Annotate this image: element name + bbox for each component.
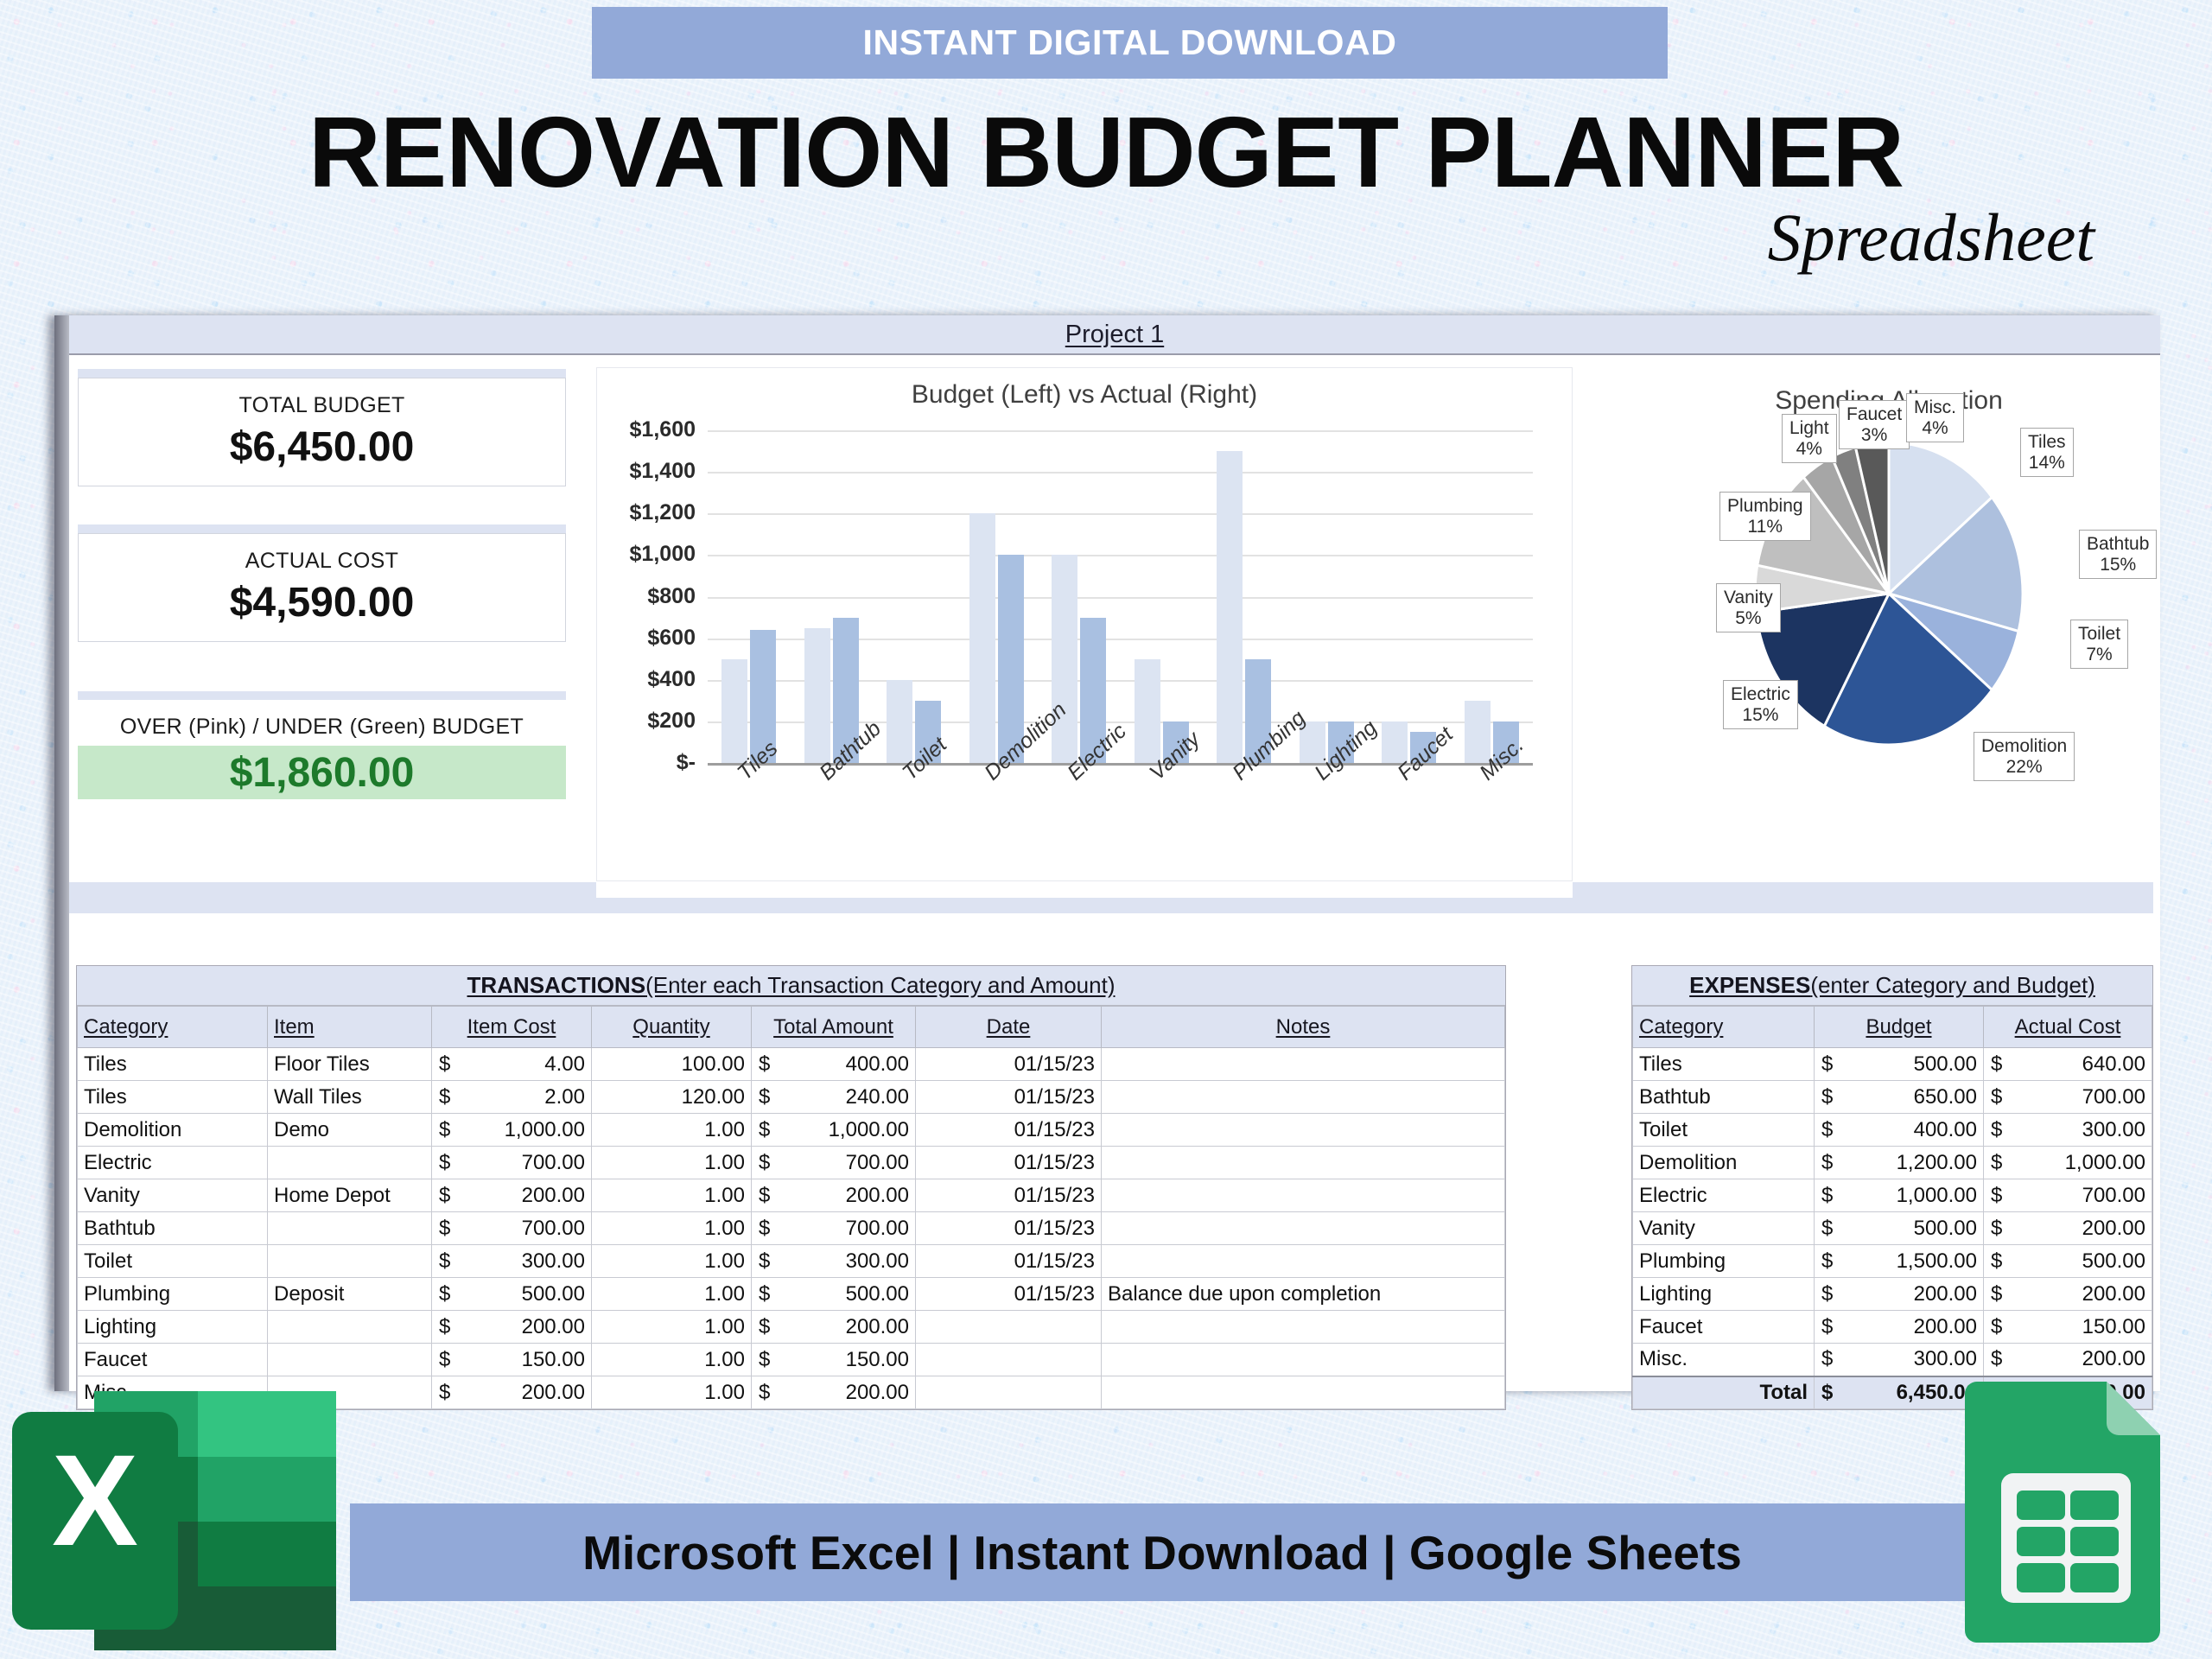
currency-symbol: $: [1991, 1217, 2002, 1241]
cell-quantity[interactable]: 1.00: [592, 1344, 752, 1376]
currency-symbol: $: [439, 1184, 450, 1208]
pie-callout-value: 15%: [1731, 705, 1790, 726]
transactions-th: Item: [268, 1007, 432, 1048]
bar-chart-y-tick: $400: [647, 667, 696, 692]
table-row[interactable]: Toilet$300.001.00$300.0001/15/23: [78, 1245, 1505, 1278]
currency-symbol: $: [1821, 1249, 1833, 1274]
cell-quantity[interactable]: 1.00: [592, 1147, 752, 1179]
cell-total-amount[interactable]: $200.00: [752, 1376, 916, 1409]
cell-date[interactable]: 01/15/23: [916, 1278, 1102, 1311]
cell-item[interactable]: [268, 1344, 432, 1376]
table-row[interactable]: Bathtub$650.00$700.00: [1633, 1081, 2152, 1114]
cell-date[interactable]: 01/15/23: [916, 1212, 1102, 1245]
cell-notes[interactable]: [1102, 1245, 1505, 1278]
page-title: RENOVATION BUDGET PLANNER: [0, 102, 2212, 202]
expenses-body: Tiles$500.00$640.00Bathtub$650.00$700.00…: [1633, 1048, 2152, 1409]
table-row[interactable]: Plumbing$1,500.00$500.00: [1633, 1245, 2152, 1278]
kpi-total-budget-value: $6,450.00: [230, 423, 415, 471]
pie-callout-label: Misc.: [1914, 397, 1956, 418]
currency-symbol: $: [1821, 1217, 1833, 1241]
bar-group: [969, 430, 1024, 763]
currency-symbol: $: [759, 1315, 770, 1339]
cell-budget[interactable]: $500.00: [1815, 1212, 1984, 1245]
currency-symbol: $: [1821, 1151, 1833, 1175]
cell-total-amount[interactable]: $700.00: [752, 1147, 916, 1179]
cell-quantity[interactable]: 120.00: [592, 1081, 752, 1114]
transactions-column-header: Item: [274, 1015, 315, 1039]
currency-symbol: $: [759, 1184, 770, 1208]
pie-callout-value: 3%: [1847, 425, 1902, 446]
table-row[interactable]: DemolitionDemo$1,000.001.00$1,000.0001/1…: [78, 1114, 1505, 1147]
cell-category[interactable]: Tiles: [78, 1048, 268, 1081]
cell-category[interactable]: Toilet: [1633, 1114, 1815, 1147]
transactions-th: Quantity: [592, 1007, 752, 1048]
excel-icon: X: [12, 1391, 336, 1650]
cell-item-cost[interactable]: $4.00: [432, 1048, 592, 1081]
page-subtitle-script: Spreadsheet: [0, 199, 2094, 276]
table-row[interactable]: Bathtub$700.001.00$700.0001/15/23: [78, 1212, 1505, 1245]
cell-category[interactable]: Lighting: [78, 1311, 268, 1344]
currency-symbol: $: [1991, 1151, 2002, 1175]
pie-callout-label: Light: [1789, 418, 1829, 439]
cell-actual-cost[interactable]: $700.00: [1984, 1081, 2152, 1114]
bar-budget-vanity: [1135, 659, 1160, 763]
currency-symbol: $: [1821, 1085, 1833, 1109]
cell-category[interactable]: Plumbing: [1633, 1245, 1815, 1278]
bar-chart-plot-area: $-$200$400$600$800$1,000$1,200$1,400$1,6…: [708, 430, 1533, 763]
bar-chart-y-tick: $600: [647, 626, 696, 651]
bar-group: [1217, 430, 1271, 763]
currency-symbol: $: [1821, 1381, 1833, 1405]
expenses-table-panel: EXPENSES (enter Category and Budget) Cat…: [1631, 965, 2153, 1410]
table-row[interactable]: Tiles$500.00$640.00: [1633, 1048, 2152, 1081]
cell-item-cost[interactable]: $200.00: [432, 1376, 592, 1409]
bar-chart-y-tick: $1,600: [630, 417, 696, 442]
cell-item[interactable]: [268, 1311, 432, 1344]
bar-budget-bathtub: [804, 628, 830, 763]
expenses-column-header: Actual Cost: [2015, 1015, 2121, 1039]
cell-budget[interactable]: $300.00: [1815, 1344, 1984, 1376]
transactions-column-header: Notes: [1276, 1015, 1331, 1039]
bar-chart-y-tick: $200: [647, 709, 696, 734]
cell-date[interactable]: 01/15/23: [916, 1081, 1102, 1114]
cell-category[interactable]: Tiles: [78, 1081, 268, 1114]
expenses-heading: EXPENSES (enter Category and Budget): [1632, 966, 2152, 1006]
cell-total-amount[interactable]: $1,000.00: [752, 1114, 916, 1147]
currency-symbol: $: [439, 1315, 450, 1339]
currency-symbol: $: [439, 1381, 450, 1405]
transactions-column-header: Item Cost: [467, 1015, 556, 1039]
kpi-actual-cost-value: $4,590.00: [230, 579, 415, 626]
kpi-over-under-budget: OVER (Pink) / UNDER (Green) BUDGET $1,86…: [78, 700, 566, 814]
pie-callout-label: Tiles: [2028, 432, 2066, 453]
pie-callout-bathtub: Bathtub15%: [2079, 530, 2157, 579]
currency-symbol: $: [439, 1151, 450, 1175]
transactions-header-row: CategoryItemItem CostQuantityTotal Amoun…: [78, 1007, 1505, 1048]
currency-symbol: $: [439, 1085, 450, 1109]
pie-callout-label: Bathtub: [2087, 534, 2149, 555]
cell-budget[interactable]: $400.00: [1815, 1114, 1984, 1147]
cell-item-cost[interactable]: $500.00: [432, 1278, 592, 1311]
pie-callout-electric: Electric15%: [1723, 680, 1798, 729]
pie-callout-value: 11%: [1727, 517, 1803, 537]
expenses-th: Budget: [1815, 1007, 1984, 1048]
cell-budget[interactable]: $1,000.00: [1815, 1179, 1984, 1212]
pie-callout-value: 22%: [1981, 757, 2067, 778]
transactions-table: CategoryItemItem CostQuantityTotal Amoun…: [77, 1006, 1505, 1409]
kpi-divider-2: [78, 524, 566, 533]
transactions-column-header: Quantity: [632, 1015, 709, 1039]
pie-callout-plumbing: Plumbing11%: [1719, 492, 1811, 541]
currency-symbol: $: [439, 1217, 450, 1241]
instant-download-banner-label: INSTANT DIGITAL DOWNLOAD: [863, 22, 1397, 63]
expenses-total-label: Total: [1633, 1376, 1815, 1409]
currency-symbol: $: [439, 1249, 450, 1274]
kpi-total-budget: TOTAL BUDGET $6,450.00: [78, 378, 566, 486]
currency-symbol: $: [1821, 1347, 1833, 1371]
cell-category[interactable]: Tiles: [1633, 1048, 1815, 1081]
kpi-over-under-value: $1,860.00: [230, 749, 415, 797]
bar-group: [1135, 430, 1189, 763]
currency-symbol: $: [759, 1118, 770, 1142]
pie-callout-label: Toilet: [2078, 624, 2120, 645]
bar-group: [721, 430, 776, 763]
cell-total-amount[interactable]: $500.00: [752, 1278, 916, 1311]
transactions-heading-bold: TRANSACTIONS: [467, 972, 646, 999]
cell-quantity[interactable]: 1.00: [592, 1245, 752, 1278]
bar-chart-y-tick: $800: [647, 583, 696, 608]
project-title-bar: Project 1: [69, 315, 2160, 355]
cell-total-amount[interactable]: $300.00: [752, 1245, 916, 1278]
table-row[interactable]: Electric$1,000.00$700.00: [1633, 1179, 2152, 1212]
cell-total-amount[interactable]: $150.00: [752, 1344, 916, 1376]
cell-item[interactable]: Demo: [268, 1114, 432, 1147]
instant-download-banner: INSTANT DIGITAL DOWNLOAD: [592, 7, 1668, 79]
transactions-table-panel: TRANSACTIONS (Enter each Transaction Cat…: [76, 965, 1506, 1410]
cell-budget[interactable]: $650.00: [1815, 1081, 1984, 1114]
table-row[interactable]: Faucet$200.00$150.00: [1633, 1311, 2152, 1344]
project-title: Project 1: [1065, 321, 1164, 349]
table-row[interactable]: TilesWall Tiles$2.00120.00$240.0001/15/2…: [78, 1081, 1505, 1114]
currency-symbol: $: [1821, 1052, 1833, 1077]
bar-group: [887, 430, 941, 763]
bar-chart-y-tick: $1,200: [630, 500, 696, 525]
table-row[interactable]: Toilet$400.00$300.00: [1633, 1114, 2152, 1147]
cell-item[interactable]: Floor Tiles: [268, 1048, 432, 1081]
expenses-th: Category: [1633, 1007, 1815, 1048]
spending-allocation-pie-chart: Spending Allocation Tiles14%Bathtub15%To…: [1624, 367, 2153, 881]
cell-actual-cost[interactable]: $200.00: [1984, 1278, 2152, 1311]
currency-symbol: $: [439, 1348, 450, 1372]
cell-notes[interactable]: Balance due upon completion: [1102, 1278, 1505, 1311]
currency-symbol: $: [1821, 1184, 1833, 1208]
cell-category[interactable]: Lighting: [1633, 1278, 1815, 1311]
cell-quantity[interactable]: 1.00: [592, 1114, 752, 1147]
currency-symbol: $: [1991, 1249, 2002, 1274]
google-sheets-icon: [1960, 1370, 2176, 1655]
cell-category[interactable]: Bathtub: [78, 1212, 268, 1245]
currency-symbol: $: [1991, 1184, 2002, 1208]
spreadsheet-right-edge: [2153, 315, 2160, 1391]
table-row[interactable]: Lighting$200.001.00$200.00: [78, 1311, 1505, 1344]
pie-callout-light: Light4%: [1782, 414, 1837, 463]
table-row[interactable]: VanityHome Depot$200.001.00$200.0001/15/…: [78, 1179, 1505, 1212]
cell-notes[interactable]: [1102, 1147, 1505, 1179]
cell-budget[interactable]: $200.00: [1815, 1311, 1984, 1344]
cell-date[interactable]: 01/15/23: [916, 1048, 1102, 1081]
currency-symbol: $: [1821, 1118, 1833, 1142]
expenses-column-header: Category: [1639, 1015, 1723, 1039]
currency-symbol: $: [759, 1249, 770, 1274]
cell-notes[interactable]: [1102, 1212, 1505, 1245]
currency-symbol: $: [759, 1217, 770, 1241]
currency-symbol: $: [439, 1282, 450, 1306]
cell-budget[interactable]: $200.00: [1815, 1278, 1984, 1311]
cell-quantity[interactable]: 1.00: [592, 1212, 752, 1245]
pie-callout-faucet: Faucet3%: [1839, 400, 1910, 449]
cell-item-cost[interactable]: $300.00: [432, 1245, 592, 1278]
currency-symbol: $: [1821, 1315, 1833, 1339]
currency-symbol: $: [759, 1381, 770, 1405]
cell-actual-cost[interactable]: $500.00: [1984, 1245, 2152, 1278]
transactions-th: Item Cost: [432, 1007, 592, 1048]
spreadsheet-left-shadow: [54, 315, 69, 1391]
cell-category[interactable]: Demolition: [78, 1114, 268, 1147]
sheet-mid-notch: [596, 882, 1573, 898]
pie-callout-demolition: Demolition22%: [1974, 732, 2075, 781]
currency-symbol: $: [1991, 1118, 2002, 1142]
transactions-th: Total Amount: [752, 1007, 916, 1048]
pie-callout-value: 4%: [1789, 439, 1829, 460]
pie-callout-tiles: Tiles14%: [2020, 428, 2074, 477]
cell-budget[interactable]: $500.00: [1815, 1048, 1984, 1081]
cell-item-cost[interactable]: $1,000.00: [432, 1114, 592, 1147]
kpi-actual-cost: ACTUAL COST $4,590.00: [78, 533, 566, 642]
svg-text:X: X: [52, 1427, 138, 1573]
cell-item-cost[interactable]: $150.00: [432, 1344, 592, 1376]
cell-category[interactable]: Vanity: [78, 1179, 268, 1212]
kpi-divider-3: [78, 691, 566, 700]
pie-callout-toilet: Toilet7%: [2070, 620, 2128, 669]
currency-symbol: $: [759, 1052, 770, 1077]
pie-callout-label: Vanity: [1724, 588, 1773, 608]
cell-budget[interactable]: $1,500.00: [1815, 1245, 1984, 1278]
transactions-th: Date: [916, 1007, 1102, 1048]
cell-category[interactable]: Toilet: [78, 1245, 268, 1278]
cell-item[interactable]: Deposit: [268, 1278, 432, 1311]
cell-actual-cost[interactable]: $150.00: [1984, 1311, 2152, 1344]
bar-budget-toilet: [887, 680, 912, 763]
bar-chart-x-axis-labels: TilesBathtubToiletDemolitionElectricVani…: [708, 767, 1533, 871]
kpi-actual-cost-label: ACTUAL COST: [245, 549, 398, 574]
currency-symbol: $: [759, 1151, 770, 1175]
bar-chart-y-tick: $-: [677, 750, 696, 775]
bar-chart-y-tick: $1,000: [630, 542, 696, 567]
pie-callout-vanity: Vanity5%: [1716, 583, 1781, 632]
cell-budget[interactable]: $1,200.00: [1815, 1147, 1984, 1179]
pie-callout-value: 4%: [1914, 418, 1956, 439]
cell-category[interactable]: Plumbing: [78, 1278, 268, 1311]
currency-symbol: $: [439, 1118, 450, 1142]
currency-symbol: $: [759, 1282, 770, 1306]
table-row[interactable]: TilesFloor Tiles$4.00100.00$400.0001/15/…: [78, 1048, 1505, 1081]
table-row[interactable]: Vanity$500.00$200.00: [1633, 1212, 2152, 1245]
bar-group: [1300, 430, 1354, 763]
cell-date[interactable]: [916, 1344, 1102, 1376]
cell-category[interactable]: Bathtub: [1633, 1081, 1815, 1114]
cell-category[interactable]: Misc.: [1633, 1344, 1815, 1376]
pie-callout-label: Demolition: [1981, 736, 2067, 757]
transactions-heading-rest: (Enter each Transaction Category and Amo…: [645, 972, 1115, 999]
table-row[interactable]: Demolition$1,200.00$1,000.00: [1633, 1147, 2152, 1179]
cell-notes[interactable]: [1102, 1311, 1505, 1344]
kpi-divider-1: [78, 369, 566, 378]
bar-budget-electric: [1052, 555, 1077, 763]
transactions-body: TilesFloor Tiles$4.00100.00$400.0001/15/…: [78, 1048, 1505, 1409]
cell-category[interactable]: Faucet: [78, 1344, 268, 1376]
bar-group: [1465, 430, 1519, 763]
cell-quantity[interactable]: 1.00: [592, 1376, 752, 1409]
cell-notes[interactable]: [1102, 1344, 1505, 1376]
cell-item-cost[interactable]: $200.00: [432, 1179, 592, 1212]
bar-budget-misc: [1465, 701, 1491, 763]
pie-callout-label: Faucet: [1847, 404, 1902, 425]
expenses-th: Actual Cost: [1984, 1007, 2152, 1048]
cell-category[interactable]: Electric: [1633, 1179, 1815, 1212]
cell-quantity[interactable]: 1.00: [592, 1278, 752, 1311]
table-row[interactable]: PlumbingDeposit$500.001.00$500.0001/15/2…: [78, 1278, 1505, 1311]
cell-quantity[interactable]: 1.00: [592, 1179, 752, 1212]
cell-notes[interactable]: [1102, 1081, 1505, 1114]
cell-category[interactable]: Faucet: [1633, 1311, 1815, 1344]
cell-item[interactable]: Home Depot: [268, 1179, 432, 1212]
cell-item[interactable]: [268, 1212, 432, 1245]
cell-date[interactable]: 01/15/23: [916, 1114, 1102, 1147]
pie-callout-value: 15%: [2087, 555, 2149, 575]
cell-quantity[interactable]: 100.00: [592, 1048, 752, 1081]
kpi-total-budget-label: TOTAL BUDGET: [238, 393, 404, 418]
transactions-column-header: Date: [987, 1015, 1031, 1039]
cell-total-amount[interactable]: $400.00: [752, 1048, 916, 1081]
table-row[interactable]: Lighting$200.00$200.00: [1633, 1278, 2152, 1311]
cell-actual-cost[interactable]: $200.00: [1984, 1212, 2152, 1245]
transactions-heading: TRANSACTIONS (Enter each Transaction Cat…: [77, 966, 1505, 1006]
currency-symbol: $: [1991, 1347, 2002, 1371]
cell-date[interactable]: 01/15/23: [916, 1179, 1102, 1212]
cell-quantity[interactable]: 1.00: [592, 1311, 752, 1344]
pie-callout-label: Electric: [1731, 684, 1790, 705]
cell-date[interactable]: [916, 1311, 1102, 1344]
cell-total-amount[interactable]: $200.00: [752, 1179, 916, 1212]
currency-symbol: $: [1821, 1282, 1833, 1306]
table-row[interactable]: Faucet$150.001.00$150.00: [78, 1344, 1505, 1376]
bar-chart-y-tick: $1,400: [630, 459, 696, 484]
transactions-th: Category: [78, 1007, 268, 1048]
cell-total-amount[interactable]: $700.00: [752, 1212, 916, 1245]
transactions-column-header: Category: [84, 1015, 168, 1039]
pie-callout-value: 7%: [2078, 645, 2120, 665]
table-row[interactable]: Electric$700.001.00$700.0001/15/23: [78, 1147, 1505, 1179]
expenses-column-header: Budget: [1866, 1015, 1931, 1039]
cell-category[interactable]: Demolition: [1633, 1147, 1815, 1179]
cell-notes[interactable]: [1102, 1179, 1505, 1212]
footer-banner-label: Microsoft Excel | Instant Download | Goo…: [582, 1525, 1742, 1580]
cell-category[interactable]: Electric: [78, 1147, 268, 1179]
cell-item-cost[interactable]: $700.00: [432, 1212, 592, 1245]
currency-symbol: $: [759, 1348, 770, 1372]
cell-date[interactable]: 01/15/23: [916, 1147, 1102, 1179]
bar-chart-bars: [708, 430, 1533, 763]
currency-symbol: $: [1991, 1282, 2002, 1306]
bar-budget-demolition: [969, 513, 995, 763]
cell-item-cost[interactable]: $700.00: [432, 1147, 592, 1179]
footer-banner: Microsoft Excel | Instant Download | Goo…: [350, 1503, 1974, 1601]
cell-item-cost[interactable]: $200.00: [432, 1311, 592, 1344]
currency-symbol: $: [1991, 1052, 2002, 1077]
expenses-heading-rest: (enter Category and Budget): [1810, 972, 2095, 999]
kpi-over-under-band: $1,860.00: [78, 746, 566, 799]
cell-actual-cost[interactable]: $640.00: [1984, 1048, 2152, 1081]
expenses-total-budget[interactable]: $6,450.00: [1815, 1376, 1984, 1409]
cell-item-cost[interactable]: $2.00: [432, 1081, 592, 1114]
cell-actual-cost[interactable]: $300.00: [1984, 1114, 2152, 1147]
pie-callout-value: 14%: [2028, 453, 2066, 474]
expenses-table: CategoryBudgetActual Cost Tiles$500.00$6…: [1632, 1006, 2152, 1409]
pie-callout-value: 5%: [1724, 608, 1773, 629]
cell-category[interactable]: Vanity: [1633, 1212, 1815, 1245]
cell-date[interactable]: 01/15/23: [916, 1245, 1102, 1278]
pie-callout-label: Plumbing: [1727, 496, 1803, 517]
expenses-header-row: CategoryBudgetActual Cost: [1633, 1007, 2152, 1048]
cell-item[interactable]: Wall Tiles: [268, 1081, 432, 1114]
bar-group: [1382, 430, 1436, 763]
bar-group: [804, 430, 859, 763]
cell-item[interactable]: [268, 1147, 432, 1179]
cell-notes[interactable]: [1102, 1114, 1505, 1147]
transactions-th: Notes: [1102, 1007, 1505, 1048]
currency-symbol: $: [1991, 1085, 2002, 1109]
bar-budget-plumbing: [1217, 451, 1243, 763]
cell-actual-cost[interactable]: $700.00: [1984, 1179, 2152, 1212]
cell-total-amount[interactable]: $200.00: [752, 1311, 916, 1344]
cell-total-amount[interactable]: $240.00: [752, 1081, 916, 1114]
bar-chart-title: Budget (Left) vs Actual (Right): [597, 380, 1572, 410]
currency-symbol: $: [759, 1085, 770, 1109]
transactions-column-header: Total Amount: [773, 1015, 893, 1039]
expenses-heading-bold: EXPENSES: [1689, 972, 1810, 999]
cell-item[interactable]: [268, 1245, 432, 1278]
cell-notes[interactable]: [1102, 1376, 1505, 1409]
cell-actual-cost[interactable]: $1,000.00: [1984, 1147, 2152, 1179]
budget-vs-actual-bar-chart: Budget (Left) vs Actual (Right) $-$200$4…: [596, 367, 1573, 881]
cell-notes[interactable]: [1102, 1048, 1505, 1081]
currency-symbol: $: [439, 1052, 450, 1077]
bar-budget-tiles: [721, 659, 747, 763]
pie-callout-misc: Misc.4%: [1906, 393, 1964, 442]
kpi-over-under-label: OVER (Pink) / UNDER (Green) BUDGET: [120, 715, 524, 740]
cell-date[interactable]: [916, 1376, 1102, 1409]
currency-symbol: $: [1991, 1315, 2002, 1339]
